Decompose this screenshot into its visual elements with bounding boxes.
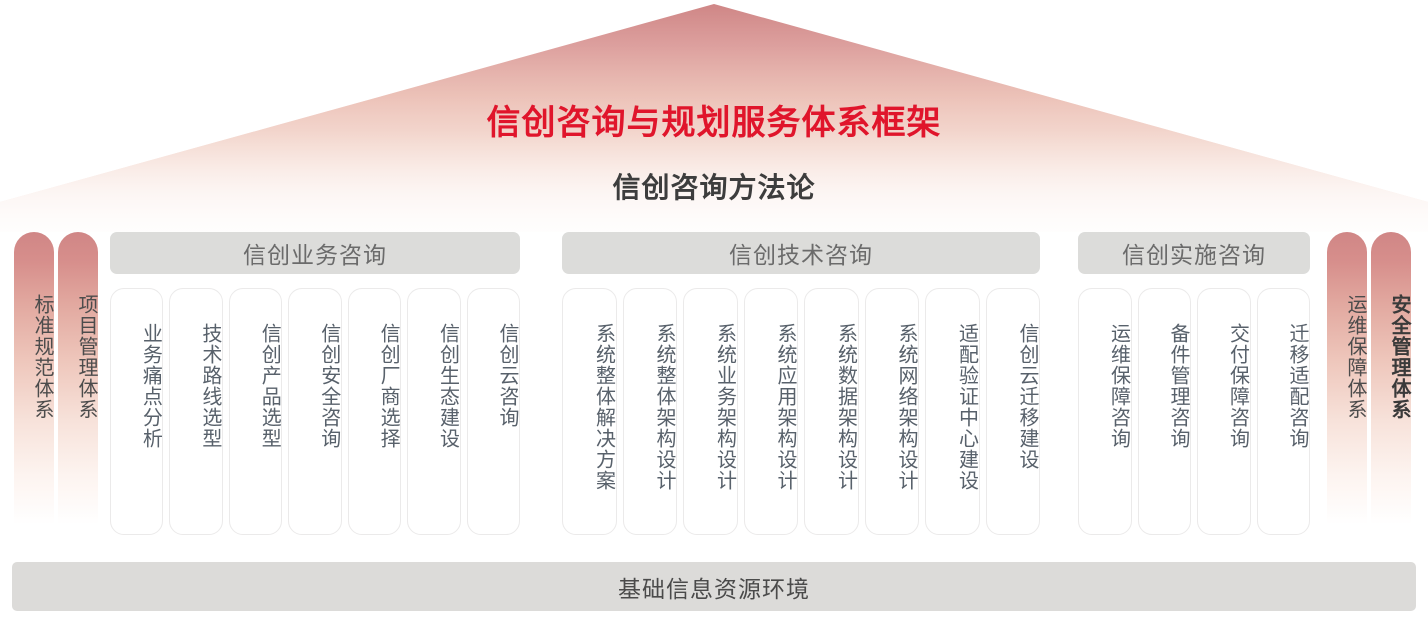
pillar-standards-system[interactable]: 标准规范体系: [14, 232, 54, 537]
card-item[interactable]: 技术路线选型: [169, 288, 222, 535]
roof-shape: 信创咨询与规划服务体系框架 信创咨询方法论: [0, 0, 1428, 232]
pillar-label: 安全管理体系: [1371, 294, 1411, 420]
section-header[interactable]: 信创实施咨询: [1078, 232, 1310, 274]
pillar-label: 运维保障体系: [1327, 294, 1367, 420]
card-list: 业务痛点分析 技术路线选型 信创产品选型 信创安全咨询 信创厂商选择 信创生态建…: [110, 288, 520, 535]
card-label: 信创云咨询: [468, 323, 519, 428]
section-header[interactable]: 信创业务咨询: [110, 232, 520, 274]
card-label: 系统整体解决方案: [563, 323, 616, 491]
pillar-label: 标准规范体系: [14, 294, 54, 420]
card-label: 信创安全咨询: [289, 323, 340, 449]
card-list: 运维保障咨询 备件管理咨询 交付保障咨询 迁移适配咨询: [1078, 288, 1310, 535]
pillar-label: 项目管理体系: [58, 294, 98, 420]
card-label: 备件管理咨询: [1139, 323, 1191, 449]
card-item[interactable]: 系统网络架构设计: [865, 288, 920, 535]
card-label: 运维保障咨询: [1079, 323, 1131, 449]
card-label: 信创厂商选择: [349, 323, 400, 449]
card-item[interactable]: 业务痛点分析: [110, 288, 163, 535]
card-label: 系统整体架构设计: [624, 323, 677, 491]
card-item[interactable]: 信创产品选型: [229, 288, 282, 535]
card-label: 交付保障咨询: [1198, 323, 1250, 449]
foundation-bar[interactable]: 基础信息资源环境: [12, 562, 1416, 611]
page-title: 信创咨询与规划服务体系框架: [0, 95, 1428, 144]
card-label: 业务痛点分析: [111, 323, 162, 449]
card-item[interactable]: 系统整体解决方案: [562, 288, 617, 535]
pillar-operations-assurance-system[interactable]: 运维保障体系: [1327, 232, 1367, 537]
card-label: 系统业务架构设计: [684, 323, 737, 491]
page-subtitle: 信创咨询方法论: [0, 166, 1428, 206]
section-header[interactable]: 信创技术咨询: [562, 232, 1040, 274]
section-business-consulting: 信创业务咨询 业务痛点分析 技术路线选型 信创产品选型 信创安全咨询 信创厂商选…: [110, 232, 520, 535]
card-label: 系统应用架构设计: [745, 323, 798, 491]
card-label: 系统网络架构设计: [866, 323, 919, 491]
card-item[interactable]: 系统整体架构设计: [623, 288, 678, 535]
section-implementation-consulting: 信创实施咨询 运维保障咨询 备件管理咨询 交付保障咨询 迁移适配咨询: [1078, 232, 1310, 535]
card-label: 信创产品选型: [230, 323, 281, 449]
card-label: 迁移适配咨询: [1258, 323, 1310, 449]
card-item[interactable]: 备件管理咨询: [1138, 288, 1192, 535]
card-item[interactable]: 信创生态建设: [407, 288, 460, 535]
card-label: 信创生态建设: [408, 323, 459, 449]
section-technology-consulting: 信创技术咨询 系统整体解决方案 系统整体架构设计 系统业务架构设计 系统应用架构…: [562, 232, 1040, 535]
card-item[interactable]: 适配验证中心建设: [925, 288, 980, 535]
pillar-project-management-system[interactable]: 项目管理体系: [58, 232, 98, 537]
card-item[interactable]: 系统业务架构设计: [683, 288, 738, 535]
diagram-canvas: 信创咨询与规划服务体系框架 信创咨询方法论 标准规范体系 项目管理体系 信创业务…: [0, 0, 1428, 627]
card-item[interactable]: 交付保障咨询: [1197, 288, 1251, 535]
card-item[interactable]: 迁移适配咨询: [1257, 288, 1311, 535]
card-item[interactable]: 运维保障咨询: [1078, 288, 1132, 535]
card-label: 适配验证中心建设: [926, 323, 979, 491]
card-item[interactable]: 系统应用架构设计: [744, 288, 799, 535]
card-item[interactable]: 信创云迁移建设: [986, 288, 1041, 535]
card-item[interactable]: 信创云咨询: [467, 288, 520, 535]
card-label: 技术路线选型: [170, 323, 221, 449]
card-label: 系统数据架构设计: [805, 323, 858, 491]
card-label: 信创云迁移建设: [987, 323, 1040, 470]
card-item[interactable]: 信创安全咨询: [288, 288, 341, 535]
card-item[interactable]: 系统数据架构设计: [804, 288, 859, 535]
card-item[interactable]: 信创厂商选择: [348, 288, 401, 535]
card-list: 系统整体解决方案 系统整体架构设计 系统业务架构设计 系统应用架构设计 系统数据…: [562, 288, 1040, 535]
pillar-security-management-system[interactable]: 安全管理体系: [1371, 232, 1411, 537]
